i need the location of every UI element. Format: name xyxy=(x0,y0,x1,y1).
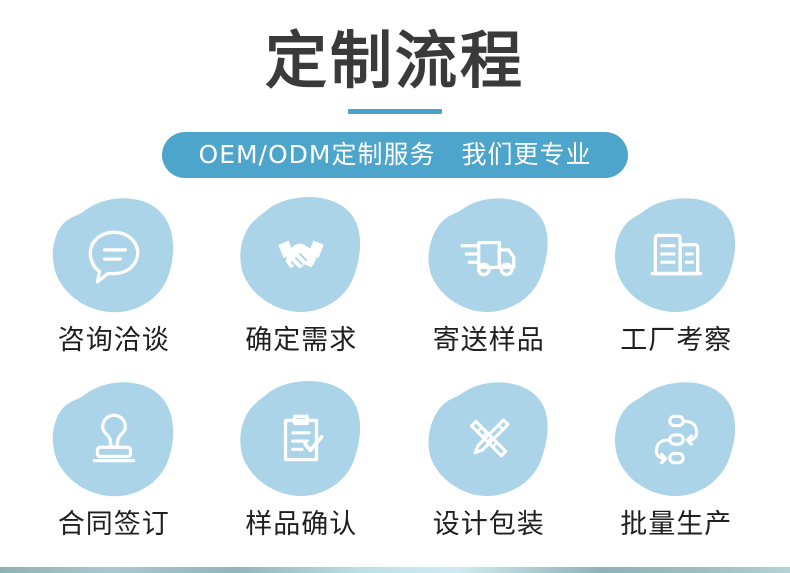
process-step[interactable]: 咨询洽谈 xyxy=(20,196,208,358)
step-label: 确定需求 xyxy=(245,324,357,358)
service-banner: OEM/ODM定制服务 我们更专业 xyxy=(162,132,628,178)
step-icon-blob xyxy=(50,380,178,498)
step-label: 合同签订 xyxy=(58,508,170,542)
pencil-ruler-icon xyxy=(456,406,522,472)
factory-buildings-icon xyxy=(643,222,709,288)
process-step[interactable]: 样品确认 xyxy=(208,380,396,542)
customization-process-page: 定制流程 OEM/ODM定制服务 我们更专业 咨询洽谈 xyxy=(0,0,790,573)
process-step[interactable]: 批量生产 xyxy=(583,380,771,542)
step-label: 寄送样品 xyxy=(433,324,545,358)
service-banner-text: OEM/ODM定制服务 我们更专业 xyxy=(199,140,592,170)
process-step[interactable]: 寄送样品 xyxy=(395,196,583,358)
rubber-stamp-icon xyxy=(81,406,147,472)
process-step[interactable]: 工厂考察 xyxy=(583,196,771,358)
step-icon-blob xyxy=(50,196,178,314)
process-step[interactable]: 合同签订 xyxy=(20,380,208,542)
delivery-truck-icon xyxy=(456,222,522,288)
process-step[interactable]: 设计包装 xyxy=(395,380,583,542)
process-loop-icon xyxy=(643,406,709,472)
page-title: 定制流程 xyxy=(0,22,790,100)
clipboard-check-icon xyxy=(268,406,334,472)
process-step[interactable]: 确定需求 xyxy=(208,196,396,358)
step-label: 设计包装 xyxy=(433,508,545,542)
step-icon-blob xyxy=(612,196,740,314)
handshake-icon xyxy=(268,222,334,288)
step-label: 工厂考察 xyxy=(620,324,732,358)
title-underline-bar xyxy=(348,109,442,114)
step-icon-blob xyxy=(612,380,740,498)
step-label: 咨询洽谈 xyxy=(58,324,170,358)
process-steps-grid: 咨询洽谈 确定需求 xyxy=(20,196,770,542)
step-icon-blob xyxy=(425,196,553,314)
step-label: 样品确认 xyxy=(245,508,357,542)
step-icon-blob xyxy=(425,380,553,498)
step-label: 批量生产 xyxy=(620,508,732,542)
step-icon-blob xyxy=(237,196,365,314)
speech-bubble-icon xyxy=(81,222,147,288)
bottom-gradient-strip xyxy=(0,567,790,573)
step-icon-blob xyxy=(237,380,365,498)
